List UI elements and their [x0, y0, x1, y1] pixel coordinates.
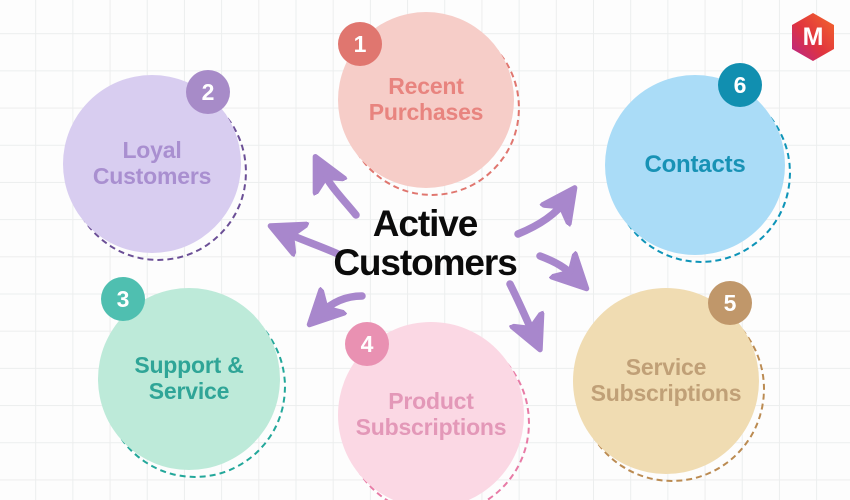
node-label-service-subscriptions: Service Subscriptions [585, 355, 748, 407]
diagram-canvas: Recent Purchases 1 Loyal Customers 2 Sup… [0, 0, 850, 500]
node-badge-3: 3 [101, 277, 145, 321]
node-label-product-subscriptions: Product Subscriptions [350, 389, 513, 441]
node-contacts[interactable]: Contacts [605, 75, 785, 255]
node-label-recent-purchases: Recent Purchases [363, 74, 490, 126]
node-label-contacts: Contacts [638, 152, 751, 179]
node-label-support-service: Support & Service [128, 353, 249, 405]
logo-letter: M [790, 12, 836, 62]
node-badge-5-number: 5 [724, 292, 737, 315]
node-badge-3-number: 3 [117, 288, 130, 311]
node-badge-1-number: 1 [354, 33, 367, 56]
node-badge-6-number: 6 [734, 74, 747, 97]
node-label-loyal-customers: Loyal Customers [87, 138, 217, 190]
arrow-to-support-service [320, 296, 362, 314]
node-badge-4: 4 [345, 322, 389, 366]
node-badge-5: 5 [708, 281, 752, 325]
arrow-to-product-subscriptions [510, 284, 534, 336]
node-badge-2-number: 2 [202, 81, 215, 104]
center-title: Active Customers [260, 204, 590, 282]
node-badge-4-number: 4 [361, 333, 374, 356]
node-badge-1: 1 [338, 22, 382, 66]
node-badge-2: 2 [186, 70, 230, 114]
node-badge-6: 6 [718, 63, 762, 107]
brand-logo[interactable]: M [790, 12, 836, 62]
